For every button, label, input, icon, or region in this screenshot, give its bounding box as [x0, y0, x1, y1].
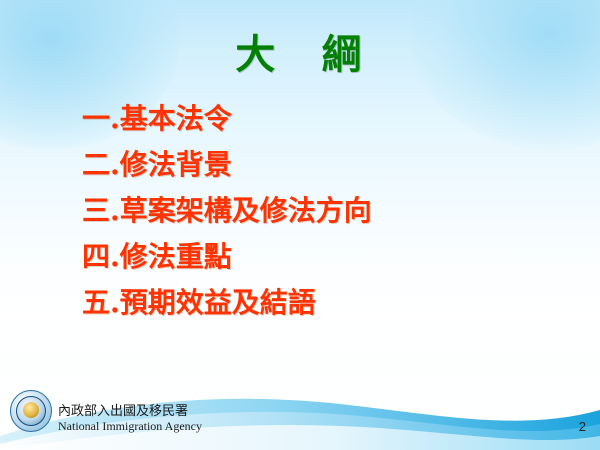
list-item: 五.預期效益及結語 — [82, 280, 542, 326]
list-item-number: 二. — [82, 142, 120, 188]
list-item: 三.草案架構及修法方向 — [82, 188, 542, 234]
list-item-label: 修法重點 — [120, 240, 232, 273]
outline-list: 一.基本法令 二.修法背景 三.草案架構及修法方向 四.修法重點 五.預期效益及… — [82, 96, 542, 326]
list-item-number: 三. — [82, 188, 120, 234]
footer-org-name-en: National Immigration Agency — [58, 420, 202, 434]
page-number: 2 — [579, 419, 586, 434]
list-item-number: 四. — [82, 234, 120, 280]
list-item-number: 五. — [82, 280, 120, 326]
list-item-label: 基本法令 — [120, 102, 232, 135]
slide-canvas: 大 綱 一.基本法令 二.修法背景 三.草案架構及修法方向 四.修法重點 五.預… — [0, 0, 600, 450]
list-item-number: 一. — [82, 96, 120, 142]
footer-org-name: 內政部入出國及移民署 National Immigration Agency — [58, 405, 202, 434]
list-item: 一.基本法令 — [82, 96, 542, 142]
agency-emblem-icon — [10, 390, 54, 434]
list-item-label: 預期效益及結語 — [120, 286, 316, 319]
list-item-label: 草案架構及修法方向 — [120, 194, 372, 227]
footer-org-name-zh: 內政部入出國及移民署 — [58, 405, 202, 420]
slide-title: 大 綱 — [0, 22, 600, 80]
list-item: 二.修法背景 — [82, 142, 542, 188]
list-item: 四.修法重點 — [82, 234, 542, 280]
list-item-label: 修法背景 — [120, 148, 232, 181]
